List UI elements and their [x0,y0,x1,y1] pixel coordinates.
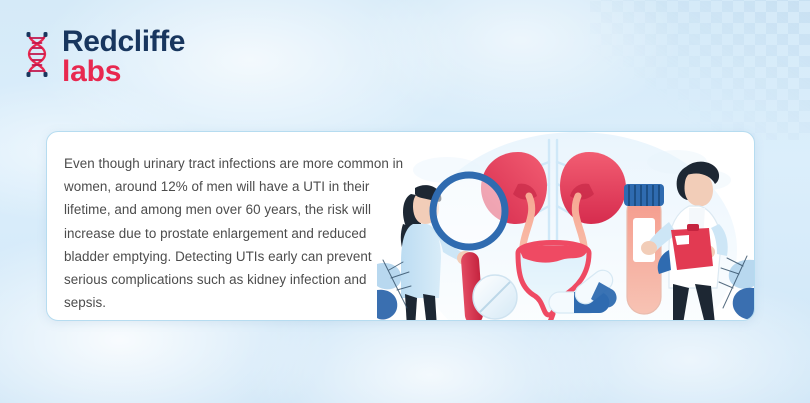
content-card: Even though urinary tract infections are… [46,131,755,321]
tablet-pill-icon [473,275,517,319]
banner: Redcliffe labs Even though urinary tract… [0,0,810,403]
clipboard-icon [671,224,713,270]
dna-helix-icon [20,31,54,83]
diamond-pattern-decoration [590,0,810,140]
illustration [377,132,754,320]
brand-logo[interactable]: Redcliffe labs [20,28,185,86]
brand-wordmark: Redcliffe labs [62,28,185,86]
card-body-text: Even though urinary tract infections are… [64,152,407,314]
female-leg-front [423,294,437,320]
brand-name-bottom: labs [62,58,185,87]
card-text-block: Even though urinary tract infections are… [47,132,407,320]
brand-name-top: Redcliffe [62,28,185,57]
male-hand-left [641,241,657,255]
